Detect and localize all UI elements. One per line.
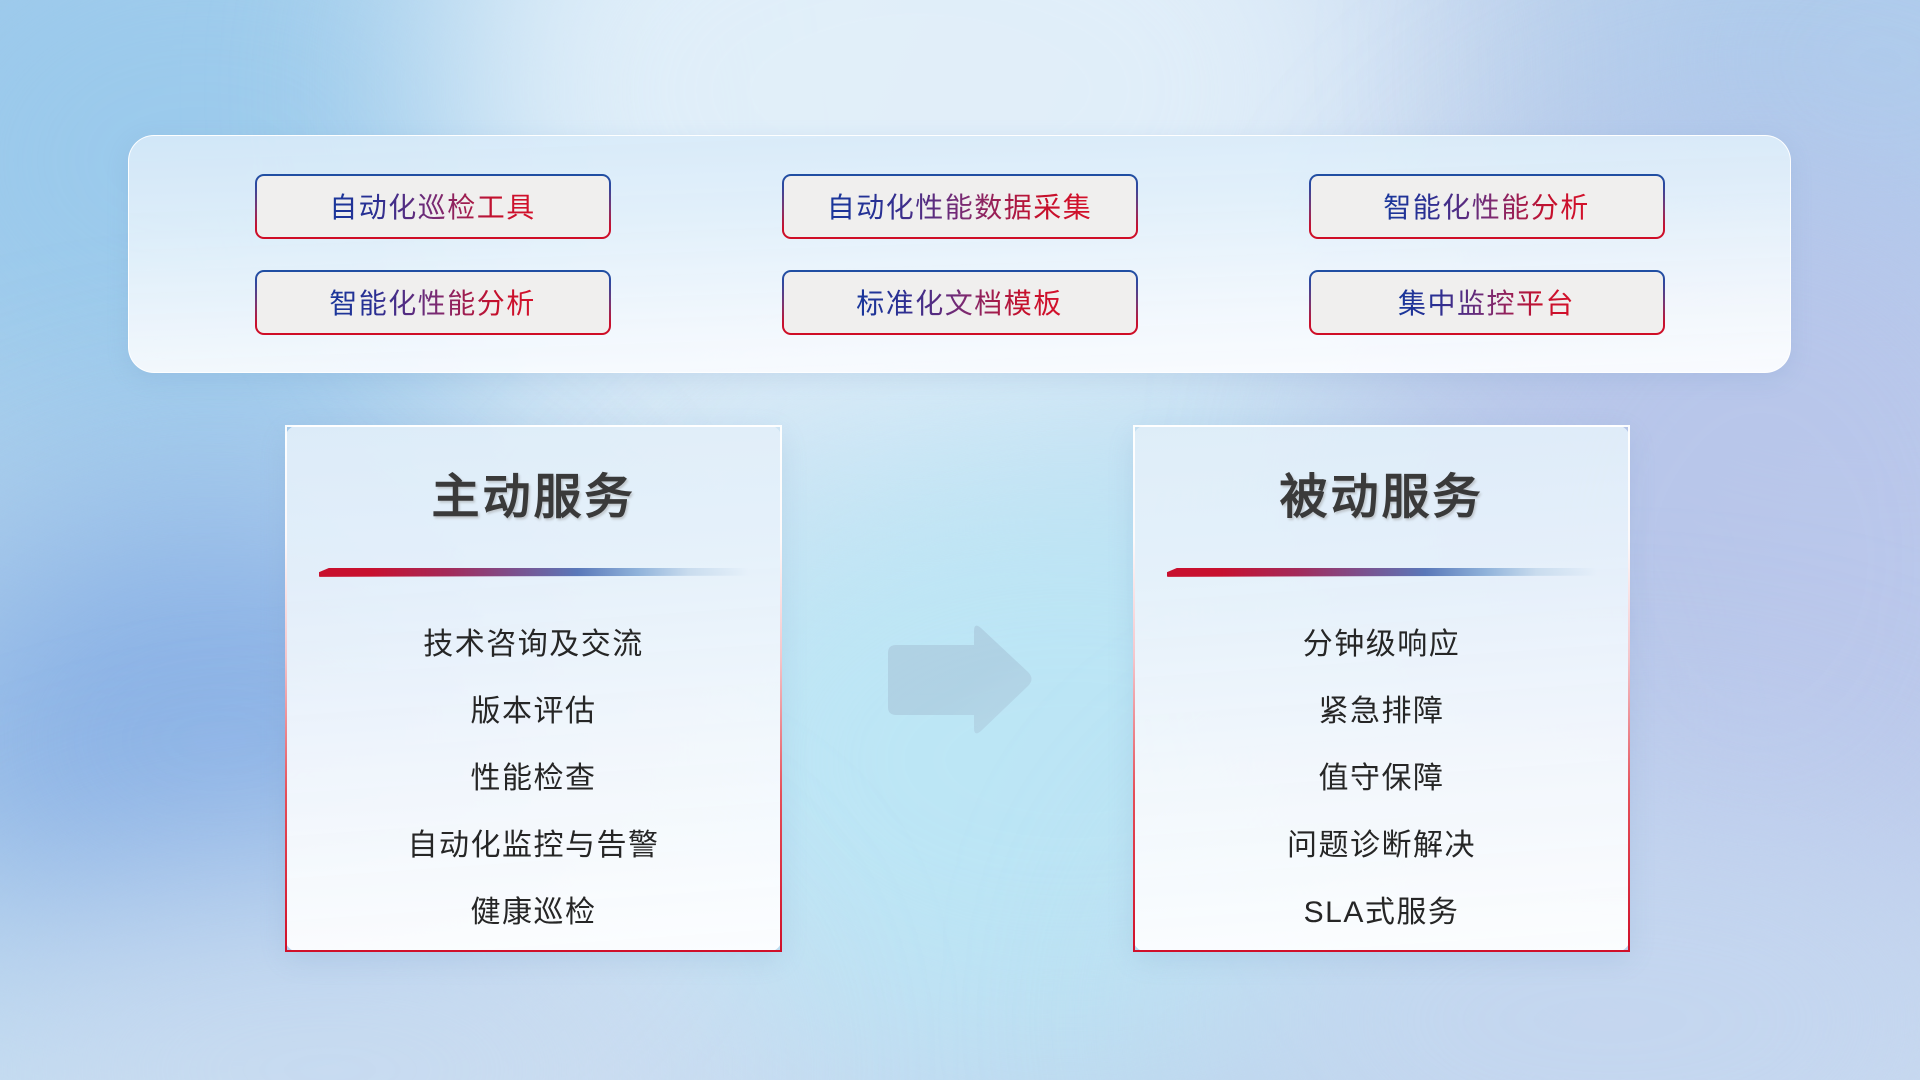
passive-service-card-divider [1167,567,1597,577]
capability-pill-automated-performance-data-collection[interactable]: 自动化性能数据采集 [782,174,1138,239]
capability-pill-label: 智能化性能分析 [329,282,536,322]
passive-service-item-list: 分钟级响应 紧急排障 值守保障 问题诊断解决 SLA式服务 [1135,619,1628,931]
list-item: 紧急排障 [1319,686,1445,730]
divider-gradient-bar [1167,567,1597,577]
capability-pill-grid: 自动化巡检工具 自动化性能数据采集 智能化性能分析 智能化性能分析 标准化文档模… [129,136,1790,372]
list-item: 健康巡检 [471,887,597,931]
capability-pill-label: 标准化文档模板 [856,282,1063,322]
capability-pill-label: 集中监控平台 [1398,282,1575,322]
list-item: 自动化监控与告警 [408,820,660,864]
list-item: 技术咨询及交流 [423,619,644,663]
capability-pill-centralized-monitoring-platform[interactable]: 集中监控平台 [1309,270,1665,335]
active-service-card-title: 主动服务 [287,457,780,527]
capability-pill-automated-inspection-tool[interactable]: 自动化巡检工具 [255,174,611,239]
divider-gradient-bar [319,567,749,577]
passive-service-card: 被动服务 分钟级响应 紧急排障 值守保障 问题诊断解决 SLA式服务 [1133,425,1630,952]
list-item: 值守保障 [1319,753,1445,797]
list-item: 性能检查 [471,753,597,797]
list-item: SLA式服务 [1304,887,1460,931]
list-item: 问题诊断解决 [1287,820,1476,864]
capability-pill-label: 自动化性能数据采集 [827,186,1093,226]
active-service-card: 主动服务 技术咨询及交流 版本评估 性能检查 自动化监控与告警 健康巡检 [285,425,782,952]
flow-arrow [878,620,1036,740]
list-item: 分钟级响应 [1303,619,1461,663]
capability-pill-standardized-document-template[interactable]: 标准化文档模板 [782,270,1138,335]
capability-pill-label: 智能化性能分析 [1383,186,1590,226]
capability-pill-label: 自动化巡检工具 [329,186,536,226]
capability-panel: 自动化巡检工具 自动化性能数据采集 智能化性能分析 智能化性能分析 标准化文档模… [128,135,1791,373]
list-item: 版本评估 [471,686,597,730]
arrow-right-icon [878,620,1036,740]
capability-pill-intelligent-performance-analysis-top[interactable]: 智能化性能分析 [1309,174,1665,239]
active-service-card-divider [319,567,749,577]
active-service-item-list: 技术咨询及交流 版本评估 性能检查 自动化监控与告警 健康巡检 [287,619,780,931]
capability-pill-intelligent-performance-analysis-bottom[interactable]: 智能化性能分析 [255,270,611,335]
passive-service-card-title: 被动服务 [1135,457,1628,527]
